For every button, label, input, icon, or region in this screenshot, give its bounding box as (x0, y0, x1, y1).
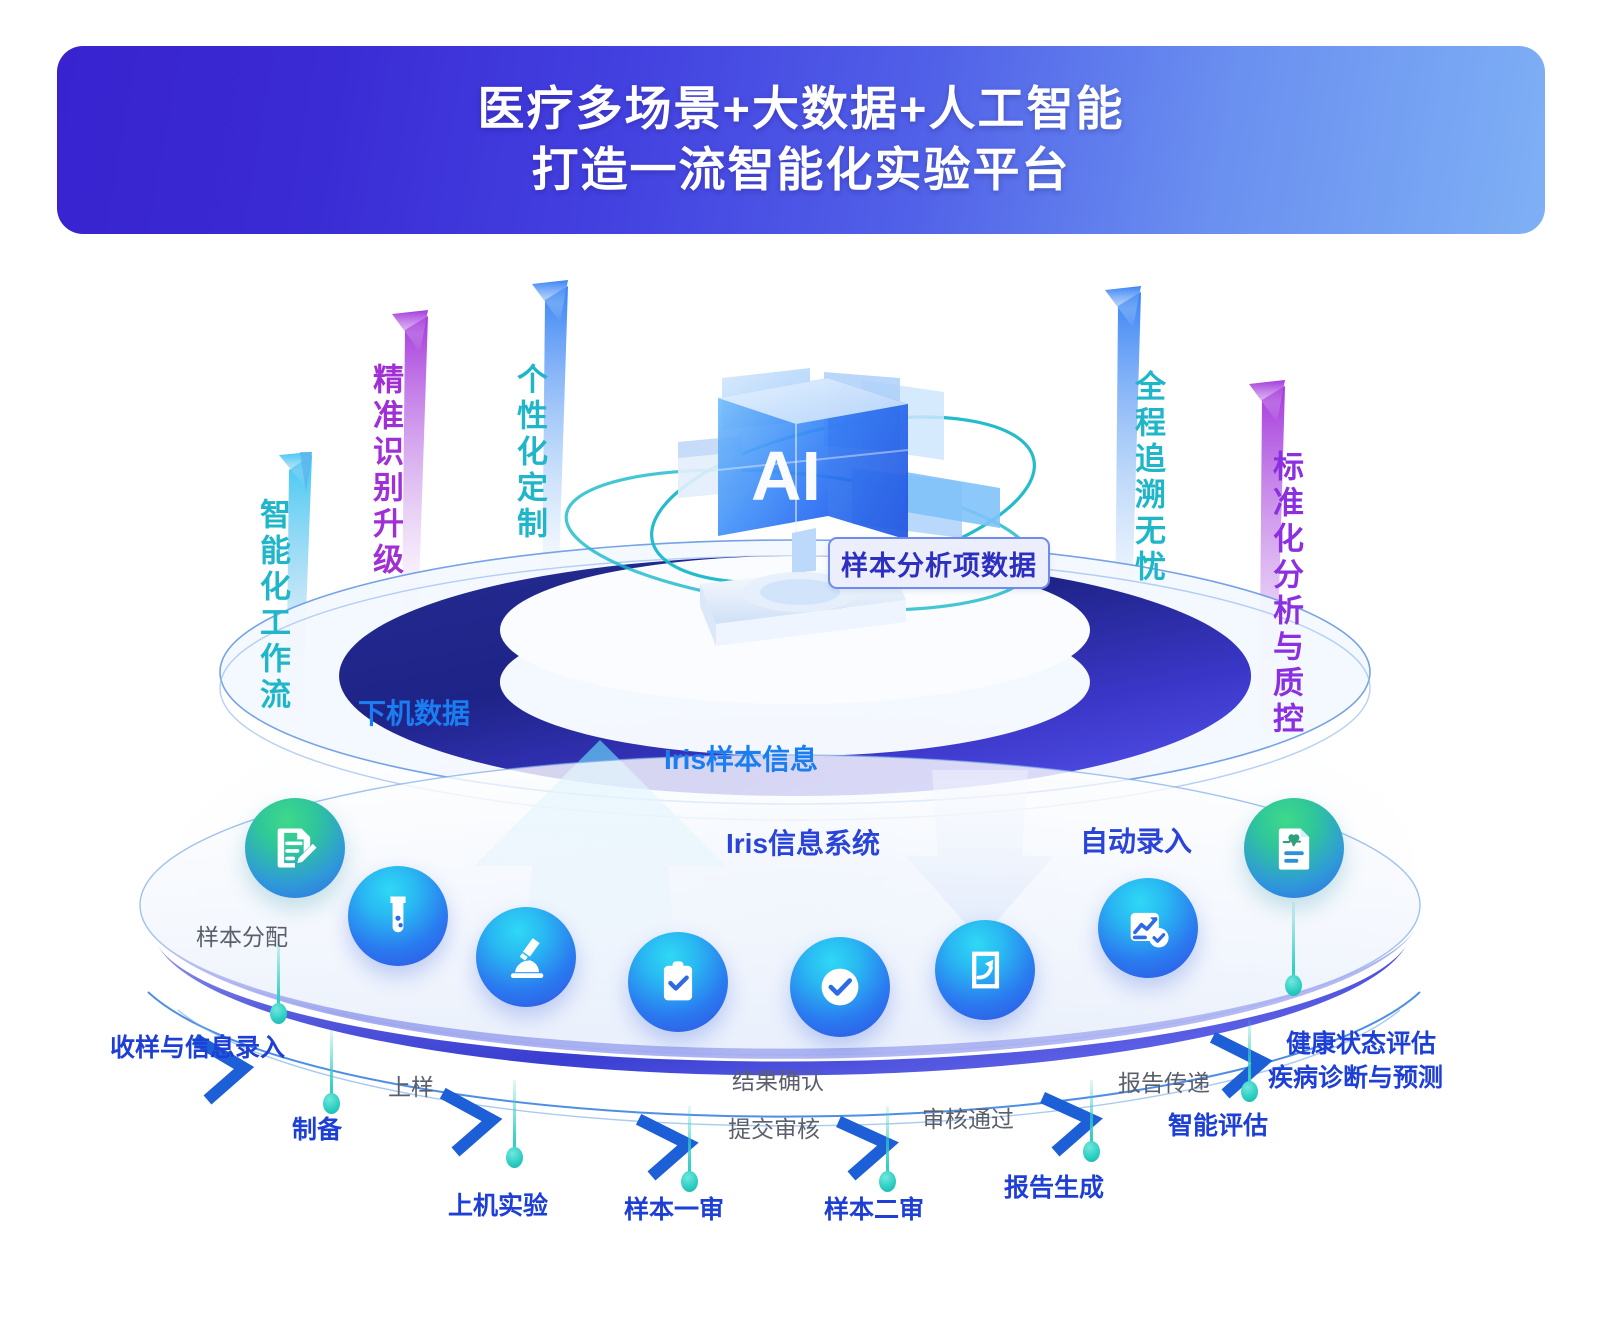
transition-label-3: 结果确认 (732, 1062, 824, 1096)
infographic-canvas: 医疗多场景+大数据+人工智能 打造一流智能化实验平台 (0, 0, 1600, 1339)
transition-label-4: 提交审核 (728, 1110, 820, 1144)
sample-analysis-badge[interactable]: 样本分析项数据 (828, 537, 1050, 589)
leader-line-s7 (1248, 1020, 1251, 1086)
leader-line-s2 (330, 1030, 333, 1098)
step-icon-8[interactable] (1244, 798, 1344, 898)
step-icon-6[interactable] (935, 920, 1035, 1020)
flow-chevrons (200, 1040, 1262, 1172)
test-tube-icon (372, 890, 424, 942)
check-circle-icon (814, 961, 866, 1013)
step-label-2: 制备 (292, 1114, 342, 1146)
step-label-1: 收样与信息录入 (110, 1032, 285, 1064)
leader-line-s8 (1292, 902, 1295, 980)
transition-label-2: 上样 (388, 1068, 434, 1102)
ai-cube-graphic: AI (678, 368, 1000, 646)
leader-line-s5 (886, 1106, 889, 1176)
flow-label-offline-data: 下机数据 (358, 692, 470, 732)
clipboard-check-icon (652, 956, 704, 1008)
banner-line-2: 打造一流智能化实验平台 (532, 139, 1071, 201)
step-icon-5[interactable] (790, 937, 890, 1037)
leader-dot-s6 (1083, 1141, 1100, 1162)
step-icon-7[interactable] (1098, 878, 1198, 978)
step-label-5: 样本二审 (824, 1194, 924, 1226)
leader-dot-s5 (879, 1171, 896, 1192)
banner-line-1: 医疗多场景+大数据+人工智能 (478, 79, 1125, 139)
downward-flow-arrow (906, 770, 1054, 940)
benefit-label-4: 全程追溯无忧 (1125, 370, 1170, 586)
transition-label-1: 样本分配 (196, 918, 288, 952)
orbit-rings (559, 387, 1049, 630)
svg-text:AI: AI (751, 437, 821, 515)
step-label-8a: 健康状态评估 (1286, 1028, 1436, 1060)
transition-label-5: 审核通过 (922, 1100, 1014, 1134)
leader-dot-s7 (1241, 1081, 1258, 1102)
benefit-label-2: 精准识别升级 (363, 363, 408, 579)
leader-dot-s4 (681, 1171, 698, 1192)
flow-label-iris-system: Iris信息系统 (726, 822, 880, 862)
step-icon-3[interactable] (476, 907, 576, 1007)
leader-dot-s2 (323, 1093, 340, 1114)
step-label-4: 样本一审 (624, 1194, 724, 1226)
flow-label-auto-entry: 自动录入 (1080, 820, 1192, 860)
benefit-label-5: 标准化分析与质控 (1263, 450, 1308, 738)
step-label-6: 报告生成 (1004, 1172, 1104, 1204)
chart-check-icon (1122, 902, 1174, 954)
transition-label-6: 报告传递 (1118, 1064, 1210, 1098)
leader-line-s6 (1090, 1080, 1093, 1146)
health-record-icon (1268, 822, 1320, 874)
benefit-label-3: 个性化定制 (507, 363, 552, 543)
step-icon-4[interactable] (628, 932, 728, 1032)
document-edit-icon (269, 822, 321, 874)
step-label-7: 智能评估 (1168, 1110, 1268, 1142)
step-label-3: 上机实验 (448, 1190, 548, 1222)
leader-dot-s8 (1285, 975, 1302, 996)
microscope-icon (500, 931, 552, 983)
flow-label-iris-sample: Iris样本信息 (664, 738, 818, 778)
leader-line-s4 (688, 1106, 691, 1176)
step-label-8b: 疾病诊断与预测 (1268, 1062, 1443, 1094)
step-icon-1[interactable] (245, 798, 345, 898)
leader-dot-s3 (506, 1147, 523, 1168)
leader-dot-s1 (270, 1003, 287, 1024)
lower-platform (140, 755, 1420, 1075)
step-icon-2[interactable] (348, 866, 448, 966)
leader-line-s3 (513, 1080, 516, 1152)
benefit-label-1: 智能化工作流 (250, 498, 295, 714)
title-banner: 医疗多场景+大数据+人工智能 打造一流智能化实验平台 (57, 46, 1545, 234)
report-send-icon (959, 944, 1011, 996)
